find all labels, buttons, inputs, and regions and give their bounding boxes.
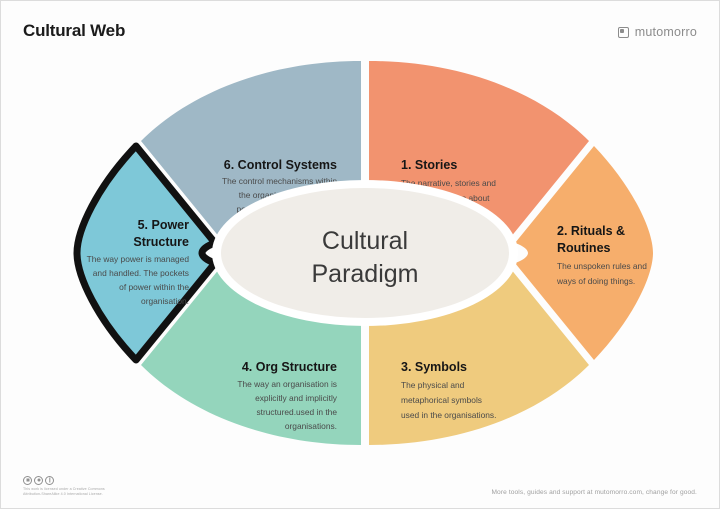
segment-symbols-body-line-3: used in the organisations. (401, 410, 496, 420)
license-icons (23, 476, 105, 485)
cultural-web-diagram: 6. Control Systems The control mechanism… (1, 53, 720, 453)
attribution-icon (34, 476, 43, 485)
license-text-line-2: Attribution-ShareAlike 4.0 International… (23, 492, 105, 498)
segment-stories-title: 1. Stories (401, 158, 457, 172)
license-block: This work is licensed under a Creative C… (23, 476, 105, 498)
segment-power-structure-body-line-2: and handled. The pockets (93, 268, 189, 278)
mutomorro-square-logo-icon (618, 27, 629, 38)
core-label-line-1: Cultural (322, 227, 408, 255)
segment-symbols-title: 3. Symbols (401, 360, 467, 374)
segment-power-structure-title-line-2: Structure (133, 235, 189, 249)
page-title: Cultural Web (23, 21, 125, 41)
segment-symbols-body-line-2: metaphorical symbols (401, 395, 482, 405)
brand-name: mutomorro (635, 25, 697, 39)
segment-power-structure-body-line-4: organisation. (141, 296, 189, 306)
brand-logo: mutomorro (618, 25, 697, 39)
segment-rituals-routines-body-line-2: ways of doing things. (556, 276, 635, 286)
segment-symbols-body-line-1: The physical and (401, 380, 465, 390)
footer: This work is licensed under a Creative C… (1, 456, 719, 508)
creative-commons-icon (23, 476, 32, 485)
segment-rituals-routines-title-line-2: Routines (557, 241, 611, 255)
segment-org-structure-title: 4. Org Structure (242, 360, 337, 374)
core-label-line-2: Paradigm (312, 260, 419, 288)
header: Cultural Web mutomorro (1, 1, 719, 59)
segment-control-systems-title: 6. Control Systems (224, 158, 337, 172)
share-alike-icon (45, 476, 54, 485)
footer-note: More tools, guides and support at mutomo… (491, 489, 697, 496)
segment-org-structure-body-line-3: structured.used in the (256, 407, 337, 417)
diagram-page: Cultural Web mutomorro 6. Control System… (0, 0, 720, 509)
segment-rituals-routines-body-line-1: The unspoken rules and (557, 261, 647, 271)
segment-power-structure-body-line-3: of power within the (119, 282, 189, 292)
cultural-paradigm-core: Cultural Paradigm (212, 180, 518, 326)
segment-org-structure-body-line-1: The way an organisation is (237, 379, 337, 389)
segment-power-structure-title-line-1: 5. Power (138, 218, 190, 232)
segment-power-structure-body-line-1: The way power is managed (87, 254, 190, 264)
segment-org-structure-body-line-4: organisations. (285, 421, 337, 431)
segment-org-structure-body-line-2: explicitly and implicitly (255, 393, 338, 403)
segment-rituals-routines-title-line-1: 2. Rituals & (557, 224, 625, 238)
